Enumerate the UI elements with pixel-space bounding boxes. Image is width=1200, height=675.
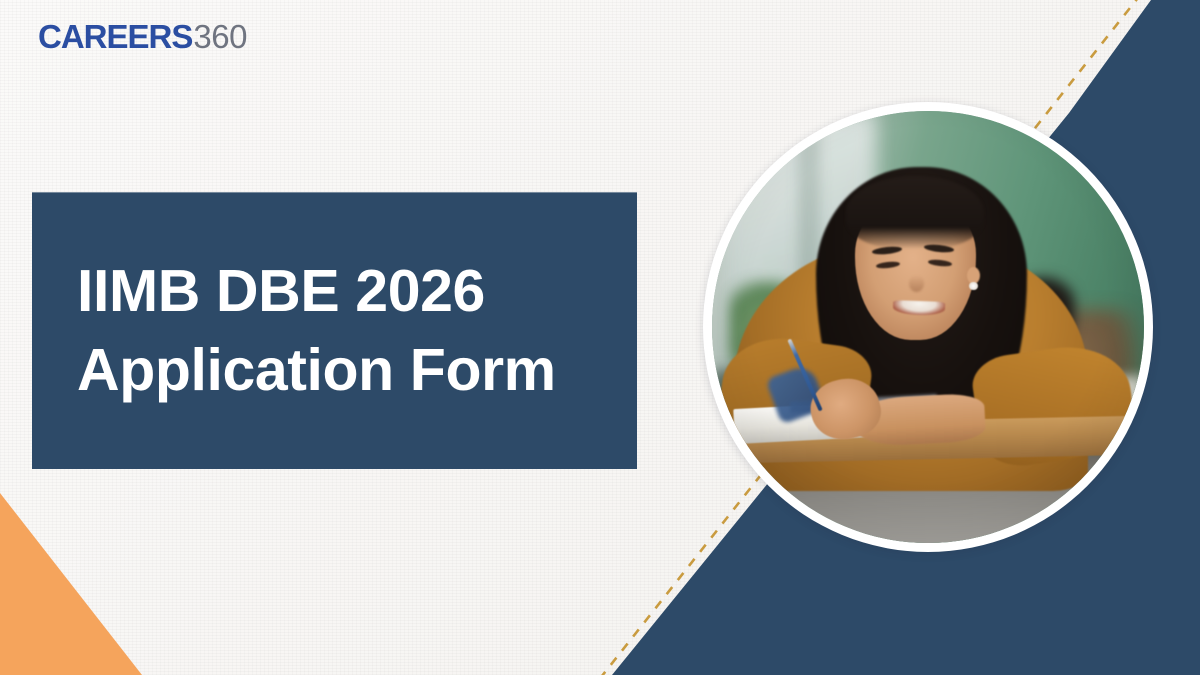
logo-careers-text: CAREERS [38,20,192,54]
banner-canvas: CAREERS 360 IIMB DBE 2026 Application Fo… [0,0,1200,675]
logo-360-text: 360 [193,20,247,53]
student-photo [712,111,1144,543]
student-photo-circle-frame [703,102,1153,552]
orange-triangle-accent [0,493,142,675]
page-title-line-1: IIMB DBE 2026 [77,252,613,330]
careers360-logo[interactable]: CAREERS 360 [38,20,247,53]
photo-vignette [712,111,1144,543]
title-card: IIMB DBE 2026 Application Form [32,192,637,469]
page-title-line-2: Application Form [77,331,613,409]
